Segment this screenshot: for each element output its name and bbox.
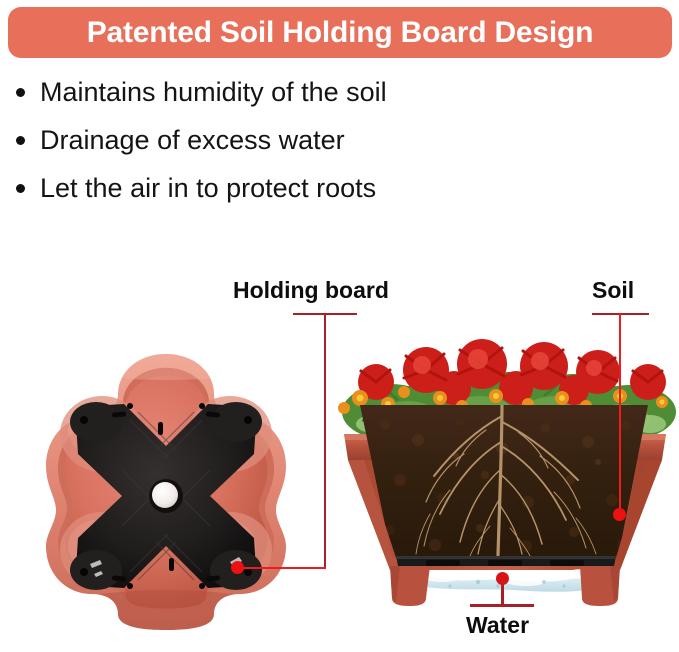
- callout-label-water: Water: [466, 612, 529, 639]
- planter-bottom-view-image: [18, 350, 314, 633]
- product-diagram: Holding board Soil Water: [0, 255, 679, 652]
- infographic-page: Patented Soil Holding Board Design Maint…: [0, 0, 679, 652]
- list-item: Let the air in to protect roots: [16, 168, 576, 216]
- list-item-label: Drainage of excess water: [40, 120, 345, 160]
- planter-cross-section-image: [330, 330, 679, 630]
- soil-leader-dot: [613, 508, 626, 521]
- center-drain-hole: [152, 482, 178, 508]
- bullet-dot-icon: [16, 136, 25, 145]
- page-title: Patented Soil Holding Board Design: [87, 18, 594, 48]
- holding-board-leader-dot: [231, 561, 244, 574]
- header-banner: Patented Soil Holding Board Design: [8, 7, 672, 58]
- callout-label-soil: Soil: [592, 277, 634, 304]
- water-leader-dot: [496, 572, 509, 585]
- soil-layer: [350, 400, 660, 570]
- holding-board-plate: [396, 556, 616, 566]
- bullet-dot-icon: [16, 88, 25, 97]
- list-item: Maintains humidity of the soil: [16, 72, 576, 120]
- feature-bullet-list: Maintains humidity of the soil Drainage …: [16, 72, 576, 216]
- holding-board-leader-horizontal: [240, 567, 326, 569]
- holding-board-leader-vertical: [324, 313, 326, 569]
- soil-leader-vertical: [619, 313, 621, 515]
- callout-label-holding-board: Holding board: [233, 277, 389, 304]
- list-item-label: Let the air in to protect roots: [40, 168, 376, 208]
- bullet-dot-icon: [16, 184, 25, 193]
- list-item-label: Maintains humidity of the soil: [40, 72, 387, 112]
- list-item: Drainage of excess water: [16, 120, 576, 168]
